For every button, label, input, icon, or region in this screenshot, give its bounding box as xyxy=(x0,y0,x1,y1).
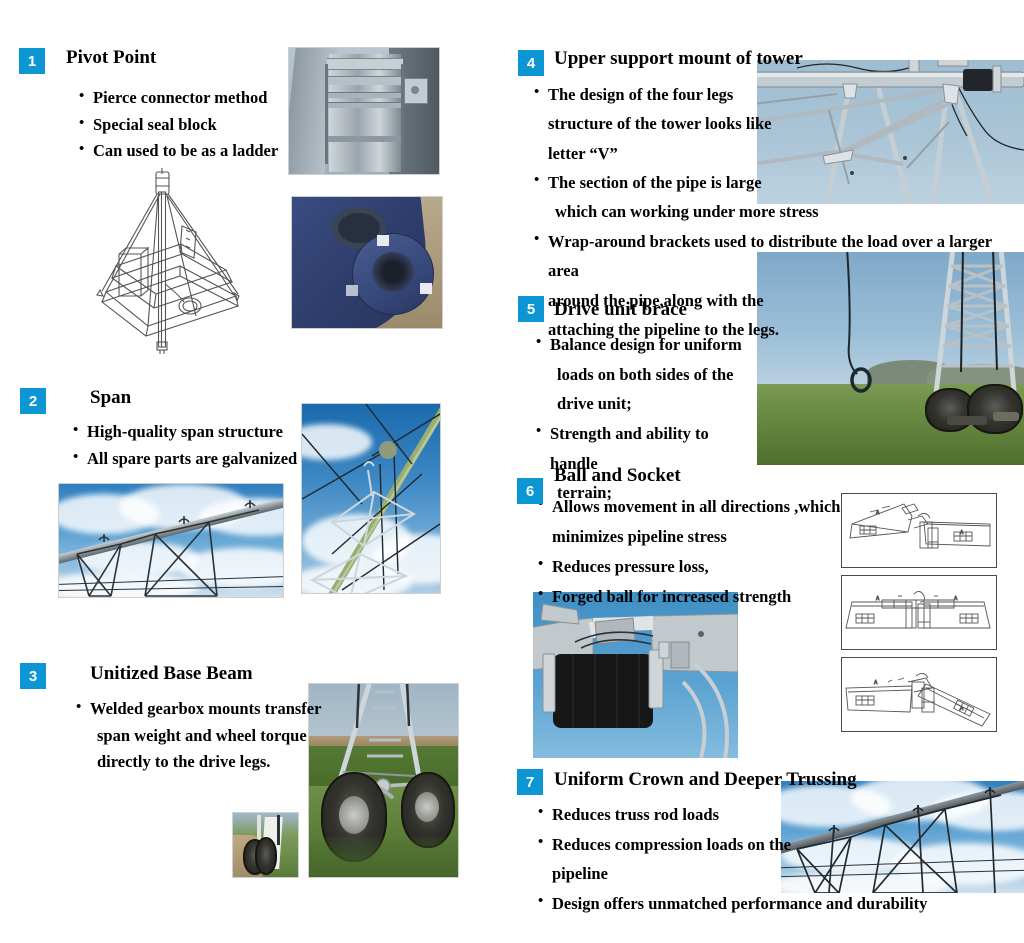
bullet-continuation: drive unit; xyxy=(535,389,760,419)
photo-content xyxy=(233,813,298,877)
svg-text:A: A xyxy=(876,596,880,602)
photo-content xyxy=(309,684,458,877)
section-badge-6: 6 xyxy=(517,478,543,504)
section-badge-7: 7 xyxy=(517,769,543,795)
span-truss-detail-photo xyxy=(301,403,441,594)
pivot-point-photo xyxy=(288,47,440,175)
section-badge-1: 1 xyxy=(19,48,45,74)
base-beam-photo xyxy=(308,683,459,878)
section-heading-5: Drive unit brace xyxy=(554,299,687,321)
bullet-item: Reduces truss rod loads xyxy=(537,800,937,830)
badge-number: 4 xyxy=(527,56,535,71)
svg-text:A: A xyxy=(954,596,958,602)
section-heading-6: Ball and Socket xyxy=(554,465,681,487)
bullet-continuation: structure of the tower looks like xyxy=(533,109,1013,138)
photo-content xyxy=(289,48,439,174)
bullet-item: Balance design for uniform xyxy=(535,330,760,360)
bullet-continuation: minimizes pipeline stress xyxy=(537,522,847,552)
photo-content xyxy=(302,404,440,593)
bullet-item: Wrap-around brackets used to distribute … xyxy=(533,227,1013,286)
badge-number: 2 xyxy=(29,394,37,409)
section-badge-3: 3 xyxy=(20,663,46,689)
bullet-item: Pierce connector method xyxy=(78,85,308,112)
section-bullets-1: Pierce connector method Special seal blo… xyxy=(78,85,308,165)
bullet-item: Special seal block xyxy=(78,112,308,139)
photo-content xyxy=(59,484,283,597)
section-bullets-2: High-quality span structure All spare pa… xyxy=(72,419,312,472)
bullet-continuation: letter “V” xyxy=(533,139,1013,168)
badge-number: 7 xyxy=(526,775,534,790)
bullet-item: Can used to be as a ladder xyxy=(78,138,308,165)
section-bullets-6: Allows movement in all directions ,which… xyxy=(537,492,847,612)
bullet-continuation: pipeline xyxy=(537,859,937,889)
section-badge-5: 5 xyxy=(518,296,544,322)
section-heading-1: Pivot Point xyxy=(66,47,156,69)
photo-content xyxy=(292,197,442,328)
badge-number: 6 xyxy=(526,484,534,499)
section-badge-2: 2 xyxy=(20,388,46,414)
bullet-continuation: which can working under more stress xyxy=(533,197,1013,226)
section-heading-3: Unitized Base Beam xyxy=(90,663,253,685)
brochure-page: 1 Pivot Point Pierce connector method Sp… xyxy=(0,0,1024,943)
pivot-tower-drawing xyxy=(86,166,266,356)
badge-number: 5 xyxy=(527,302,535,317)
photo-content xyxy=(533,592,738,758)
section-bullets-7: Reduces truss rod loads Reduces compress… xyxy=(537,800,937,919)
svg-text:A: A xyxy=(874,680,878,686)
bullet-item: The section of the pipe is large xyxy=(533,168,1013,197)
ball-socket-diagram-level: A A xyxy=(841,575,997,650)
bullet-continuation: span weight and wheel torque xyxy=(75,723,325,750)
span-overview-photo xyxy=(58,483,284,598)
section-heading-2: Span xyxy=(90,387,131,409)
bullet-item: Forged ball for increased strength xyxy=(537,582,847,612)
section-heading-7: Uniform Crown and Deeper Trussing xyxy=(554,769,857,791)
seal-block-photo xyxy=(291,196,443,329)
svg-text:A: A xyxy=(960,530,964,536)
section-bullets-3: Welded gearbox mounts transfer span weig… xyxy=(75,696,325,776)
bullet-item: Reduces compression loads on the xyxy=(537,830,937,860)
drive-unit-inset-photo xyxy=(232,812,299,878)
ball-socket-photo xyxy=(533,592,738,758)
bullet-continuation: loads on both sides of the xyxy=(535,360,760,390)
badge-number: 1 xyxy=(28,54,36,69)
bullet-continuation: directly to the drive legs. xyxy=(75,749,325,776)
bullet-item: Allows movement in all directions ,which xyxy=(537,492,847,522)
ball-socket-diagram-down: A A xyxy=(841,657,997,732)
bullet-item: All spare parts are galvanized xyxy=(72,446,312,473)
section-badge-4: 4 xyxy=(518,50,544,76)
badge-number: 3 xyxy=(29,669,37,684)
bullet-item: The design of the four legs xyxy=(533,80,1013,109)
bullet-item: Reduces pressure loss, xyxy=(537,552,847,582)
bullet-item: Design offers unmatched performance and … xyxy=(537,889,937,919)
section-heading-4: Upper support mount of tower xyxy=(554,48,803,70)
ball-socket-diagram-up: A A xyxy=(841,493,997,568)
bullet-item: Welded gearbox mounts transfer xyxy=(75,696,325,723)
bullet-item: High-quality span structure xyxy=(72,419,312,446)
